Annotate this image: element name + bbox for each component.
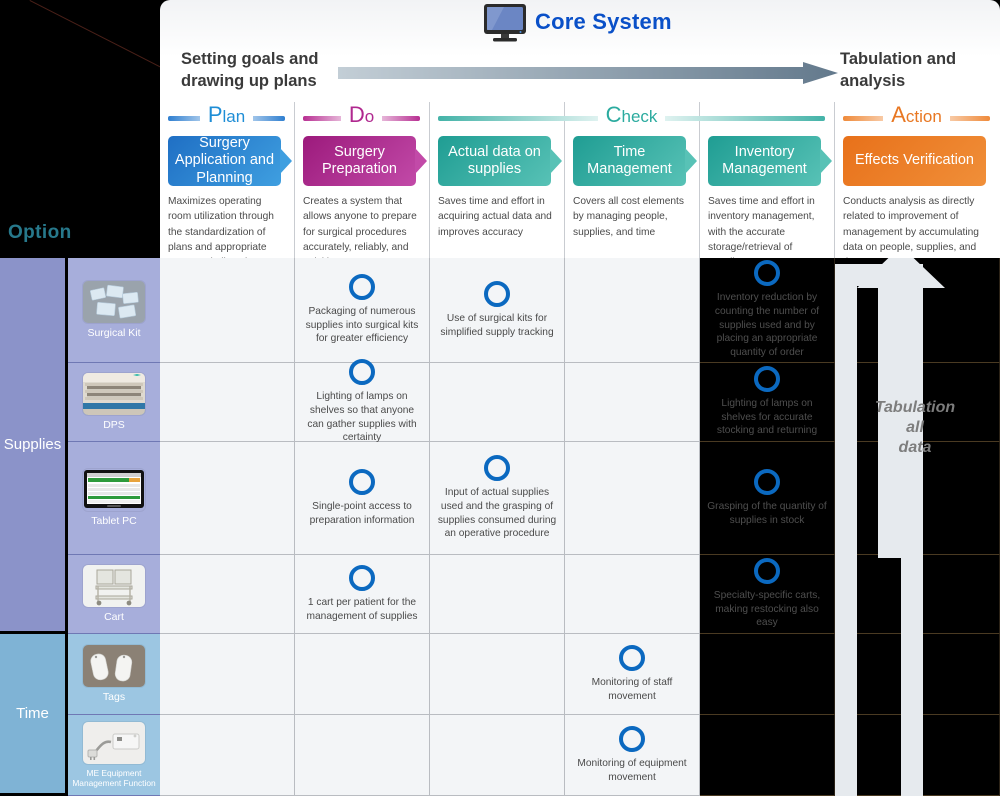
- phase-label-do: Do: [303, 102, 420, 128]
- pdca-step-title: Surgery Application and Planning: [168, 135, 281, 187]
- matrix-cell-text: Grasping of the quantity of supplies in …: [707, 500, 827, 528]
- pdca-step-description: Conducts analysis as directly related to…: [843, 194, 992, 258]
- pdca-step-description: Maximizes operating room utilization thr…: [168, 194, 286, 258]
- corner-diagonal-line: [30, 0, 160, 151]
- matrix-cell-text: Packaging of numerous supplies into surg…: [302, 305, 422, 346]
- matrix-cell[interactable]: Input of actual supplies used and the gr…: [430, 442, 565, 555]
- pdca-step-title: Surgery Preparation: [303, 144, 416, 179]
- option-item-label: Tags: [103, 691, 125, 704]
- matrix-cell[interactable]: [160, 715, 295, 796]
- matrix-cell[interactable]: Monitoring of staff movement: [565, 634, 700, 715]
- option-item-label: Cart: [104, 611, 124, 624]
- circle-marker-icon: [754, 260, 780, 286]
- category-label: Supplies: [4, 436, 62, 453]
- pdca-step-badge[interactable]: Effects Verification: [843, 136, 986, 186]
- tablet-pc-photo: [83, 469, 145, 511]
- circle-marker-icon: [484, 281, 510, 307]
- tabulation-line-3: data: [860, 438, 970, 458]
- monitor-icon: [482, 3, 528, 43]
- matrix-cell[interactable]: [565, 363, 700, 442]
- matrix-cell[interactable]: [430, 634, 565, 715]
- matrix-cell[interactable]: Monitoring of equipment movement: [565, 715, 700, 796]
- tags-photo: [83, 645, 145, 687]
- circle-marker-icon: [619, 726, 645, 752]
- option-item[interactable]: Surgical Kit: [68, 258, 160, 363]
- phase-label-check: Check: [438, 102, 825, 128]
- me-equipment-photo: [83, 722, 145, 764]
- matrix-cell[interactable]: [160, 258, 295, 363]
- matrix-cell[interactable]: Use of surgical kits for simplified supp…: [430, 258, 565, 363]
- pdca-step-title: Actual data on supplies: [438, 144, 551, 179]
- matrix-cell[interactable]: [430, 363, 565, 442]
- tabulation-line-2: all: [860, 418, 970, 438]
- matrix-cell[interactable]: Packaging of numerous supplies into surg…: [295, 258, 430, 363]
- matrix-cell[interactable]: Single-point access to preparation infor…: [295, 442, 430, 555]
- tablet-pc-photo: [83, 469, 145, 511]
- matrix-cell[interactable]: [160, 634, 295, 715]
- matrix-cell[interactable]: Specialty-specific carts, making restock…: [700, 555, 835, 634]
- matrix-cell-text: Lighting of lamps on shelves so that any…: [302, 390, 422, 445]
- matrix-cell[interactable]: [160, 363, 295, 442]
- flow-left-label: Setting goals and drawing up plans: [181, 48, 351, 93]
- circle-marker-icon: [484, 455, 510, 481]
- option-item[interactable]: ME Equipment Management Function: [68, 715, 160, 796]
- core-system-panel: Core System Setting goals and drawing up…: [160, 0, 1000, 258]
- circle-marker-icon: [754, 366, 780, 392]
- phase-label-action: Action: [843, 102, 990, 128]
- category-time[interactable]: Time: [0, 634, 65, 796]
- option-item[interactable]: Tablet PC: [68, 442, 160, 555]
- option-corner-label: Option: [8, 222, 72, 244]
- matrix-cell[interactable]: [565, 555, 700, 634]
- option-item[interactable]: DPS: [68, 363, 160, 442]
- category-supplies[interactable]: Supplies: [0, 258, 65, 634]
- category-column: SuppliesTime: [0, 258, 65, 796]
- circle-marker-icon: [349, 274, 375, 300]
- tabulation-arrow-icon: [835, 258, 1000, 796]
- badge-arrow-icon: [415, 148, 427, 174]
- matrix-cell-text: Use of surgical kits for simplified supp…: [437, 312, 557, 340]
- category-label: Time: [16, 705, 49, 722]
- shelving-photo: [83, 373, 145, 415]
- pdca-step-description: Saves time and effort in acquiring actua…: [438, 194, 556, 240]
- matrix-cell[interactable]: [565, 258, 700, 363]
- shelving-photo: [83, 373, 145, 415]
- flow-banner: Setting goals and drawing up plans Tabul…: [160, 46, 1000, 102]
- option-item[interactable]: Tags: [68, 634, 160, 715]
- badge-arrow-icon: [280, 148, 292, 174]
- option-item-label: Surgical Kit: [87, 327, 140, 340]
- matrix-cell-text: Inventory reduction by counting the numb…: [707, 291, 827, 360]
- matrix-cell-text: Monitoring of equipment movement: [572, 757, 692, 785]
- me-equipment-photo: [83, 722, 145, 764]
- matrix-cell[interactable]: Grasping of the quantity of supplies in …: [700, 442, 835, 555]
- phase-label-plan: Plan: [168, 102, 285, 128]
- matrix-cell-text: Specialty-specific carts, making restock…: [707, 589, 827, 630]
- matrix-cell-text: Single-point access to preparation infor…: [302, 500, 422, 528]
- matrix-cell-text: Monitoring of staff movement: [572, 676, 692, 704]
- matrix-cell[interactable]: [430, 715, 565, 796]
- flow-right-label: Tabulation and analysis: [840, 48, 1000, 93]
- badge-arrow-icon: [685, 148, 697, 174]
- option-item-label: Tablet PC: [91, 515, 137, 528]
- matrix-cell[interactable]: Inventory reduction by counting the numb…: [700, 258, 835, 363]
- option-items-column: Surgical Kit DPS Tablet PC: [68, 258, 160, 796]
- pdca-step-badge[interactable]: Actual data on supplies: [438, 136, 551, 186]
- tags-photo: [83, 645, 145, 687]
- matrix-cell[interactable]: [565, 442, 700, 555]
- cart-photo: [83, 565, 145, 607]
- matrix-cell[interactable]: [295, 634, 430, 715]
- circle-marker-icon: [754, 558, 780, 584]
- core-system-title: Core System: [535, 9, 672, 35]
- circle-marker-icon: [349, 565, 375, 591]
- matrix-cell[interactable]: Lighting of lamps on shelves so that any…: [295, 363, 430, 442]
- pdca-step-title: Inventory Management: [708, 144, 821, 179]
- surgical-kit-photo: [83, 281, 145, 323]
- cart-photo: [83, 565, 145, 607]
- matrix-cell[interactable]: 1 cart per patient for the management of…: [295, 555, 430, 634]
- option-item-label: DPS: [103, 419, 125, 432]
- surgical-kit-photo: [83, 281, 145, 323]
- tabulation-line-1: Tabulation: [860, 398, 970, 418]
- pdca-step-badge[interactable]: Time Management: [573, 136, 686, 186]
- option-item[interactable]: Cart: [68, 555, 160, 634]
- matrix-cell[interactable]: [160, 442, 295, 555]
- pdca-step-title: Time Management: [573, 144, 686, 179]
- tabulation-arrow-label: Tabulationalldata: [860, 398, 970, 458]
- core-system-header: Core System: [160, 0, 1000, 46]
- circle-marker-icon: [619, 645, 645, 671]
- matrix-cell[interactable]: [700, 634, 835, 715]
- matrix-cell-text: 1 cart per patient for the management of…: [302, 596, 422, 624]
- pdca-step-description: Saves time and effort in inventory manag…: [708, 194, 826, 258]
- badge-arrow-icon: [820, 148, 832, 174]
- right-arrow-icon: [338, 62, 838, 84]
- pdca-step-description: Covers all cost elements by managing peo…: [573, 194, 691, 240]
- matrix-cell[interactable]: [430, 555, 565, 634]
- circle-marker-icon: [349, 469, 375, 495]
- option-corner: Option: [0, 0, 160, 258]
- matrix-cell-text: Input of actual supplies used and the gr…: [437, 486, 557, 541]
- pdca-step-badge[interactable]: Inventory Management: [708, 136, 821, 186]
- circle-marker-icon: [349, 359, 375, 385]
- circle-marker-icon: [754, 469, 780, 495]
- matrix-cell[interactable]: Lighting of lamps on shelves for accurat…: [700, 363, 835, 442]
- diagram-root: Option Core System Setting goals and dra…: [0, 0, 1000, 796]
- matrix-cell[interactable]: [700, 715, 835, 796]
- matrix-cell[interactable]: [295, 715, 430, 796]
- badge-arrow-icon: [550, 148, 562, 174]
- pdca-header-band: Surgery Application and PlanningMaximize…: [160, 102, 1000, 258]
- pdca-step-badge[interactable]: Surgery Preparation: [303, 136, 416, 186]
- pdca-step-badge[interactable]: Surgery Application and Planning: [168, 136, 281, 186]
- pdca-step-description: Creates a system that allows anyone to p…: [303, 194, 421, 258]
- pdca-step-title: Effects Verification: [855, 152, 974, 169]
- matrix-cell[interactable]: [160, 555, 295, 634]
- option-item-label: ME Equipment Management Function: [68, 768, 160, 788]
- matrix-cell-text: Lighting of lamps on shelves for accurat…: [707, 397, 827, 438]
